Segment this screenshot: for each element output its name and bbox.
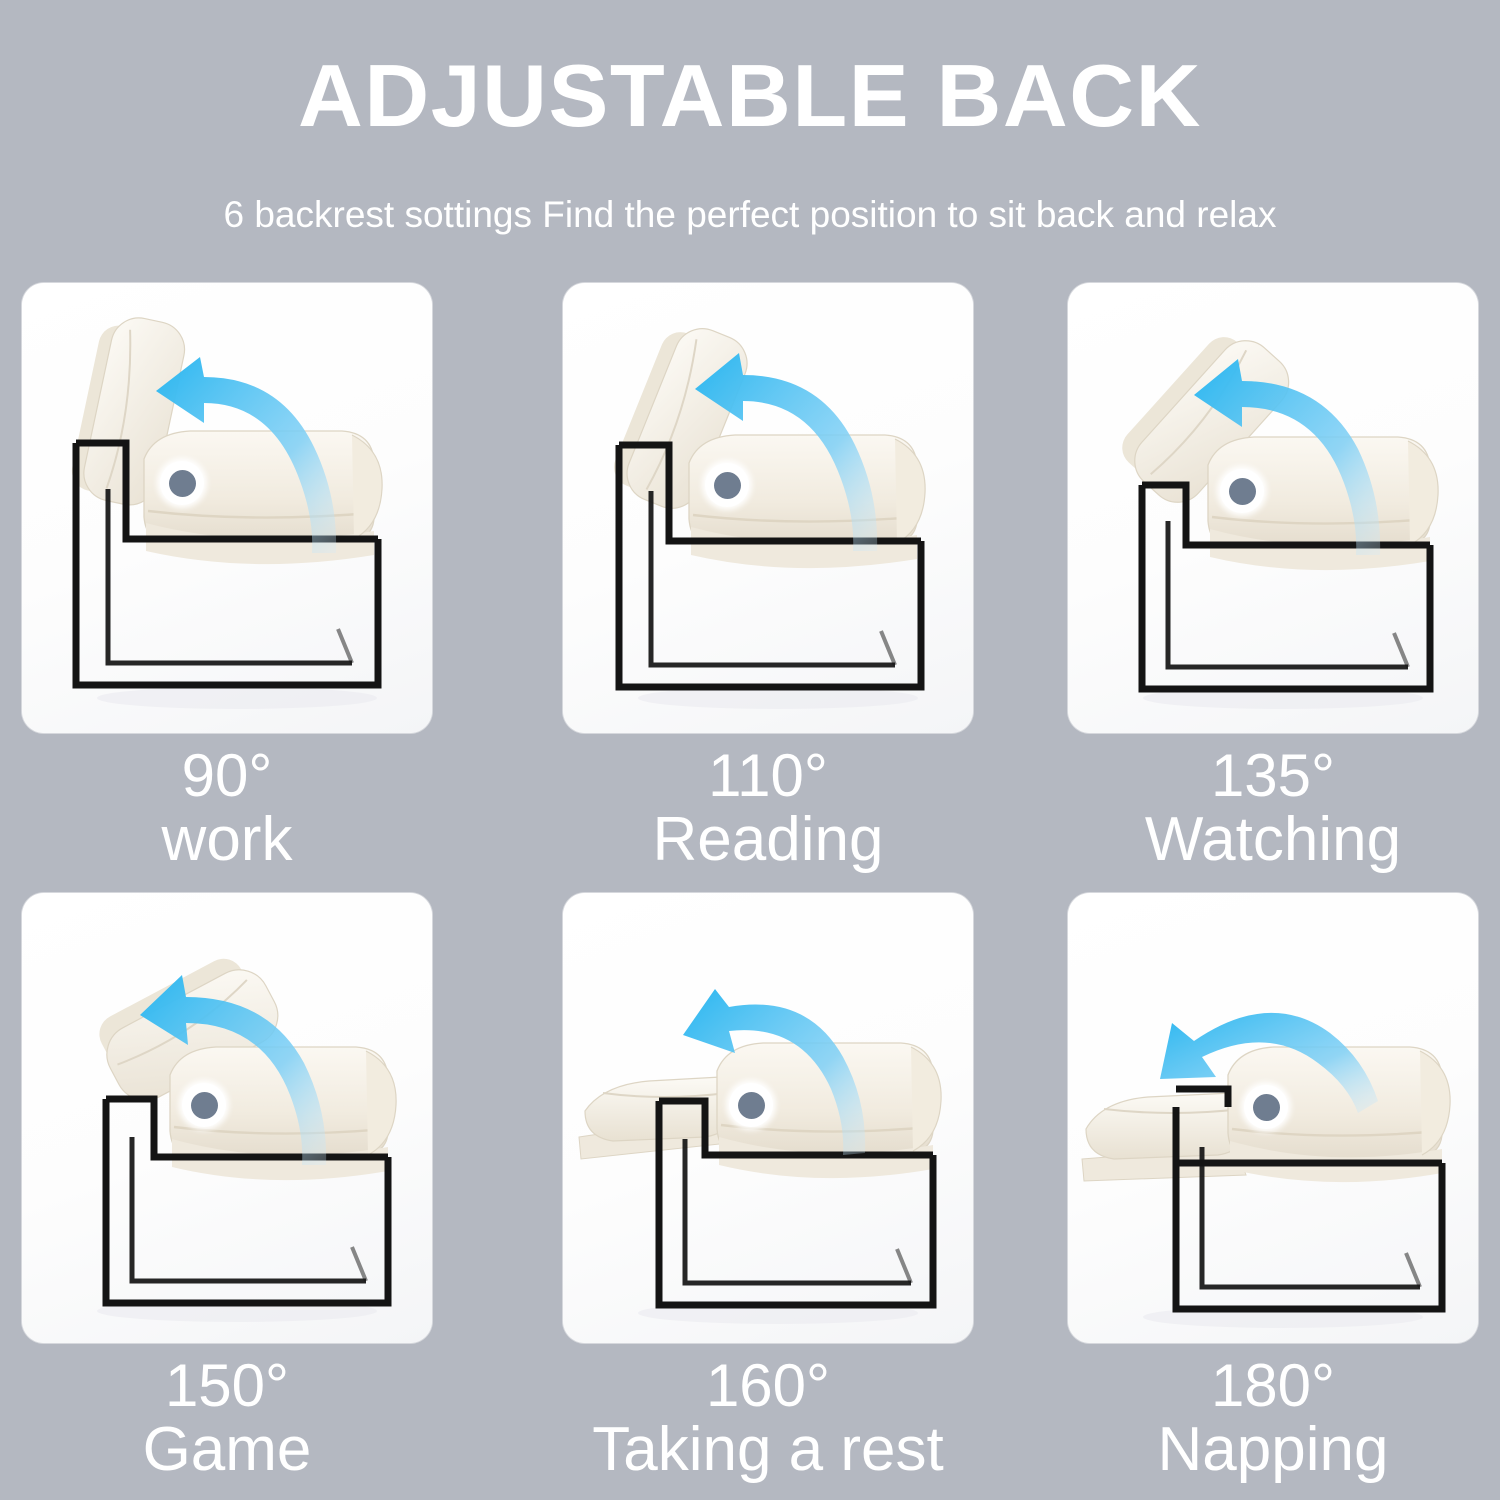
setting-caption: 110° Reading (563, 745, 973, 873)
setting-caption: 135° Watching (1068, 745, 1478, 873)
setting-activity: Watching (1068, 807, 1478, 873)
setting-degrees: 110° (563, 745, 973, 807)
pivot-point-icon (729, 1083, 773, 1127)
recline-arrow-icon (563, 283, 973, 733)
setting-cell-pos-90[interactable]: 90° work (22, 283, 432, 733)
infographic-page: ADJUSTABLE BACK 6 backrest sottings Find… (0, 0, 1500, 1500)
chair-card[interactable] (1068, 283, 1478, 733)
setting-cell-pos-160[interactable]: 160° Taking a rest (563, 893, 973, 1343)
setting-activity: Taking a rest (563, 1417, 973, 1483)
setting-degrees: 180° (1068, 1355, 1478, 1417)
settings-row-2: 150° Game (22, 893, 1478, 1343)
setting-degrees: 135° (1068, 745, 1478, 807)
pivot-point-icon (705, 463, 749, 507)
setting-caption: 90° work (22, 745, 432, 873)
setting-activity: Reading (563, 807, 973, 873)
setting-caption: 180° Napping (1068, 1355, 1478, 1483)
setting-cell-pos-150[interactable]: 150° Game (22, 893, 432, 1343)
setting-degrees: 160° (563, 1355, 973, 1417)
pivot-point-icon (1220, 469, 1264, 513)
setting-cell-pos-180[interactable]: 180° Napping (1068, 893, 1478, 1343)
pivot-point-icon (182, 1083, 226, 1127)
chair-card[interactable] (22, 893, 432, 1343)
setting-activity: work (22, 807, 432, 873)
recline-arrow-icon (22, 893, 432, 1343)
chair-card[interactable] (563, 283, 973, 733)
page-subtitle: 6 backrest sottings Find the perfect pos… (0, 196, 1500, 233)
setting-caption: 160° Taking a rest (563, 1355, 973, 1483)
recline-arrow-icon (22, 283, 432, 733)
chair-card[interactable] (1068, 893, 1478, 1343)
settings-row-1: 90° work (22, 283, 1478, 733)
setting-cell-pos-110[interactable]: 110° Reading (563, 283, 973, 733)
chair-card[interactable] (22, 283, 432, 733)
setting-activity: Napping (1068, 1417, 1478, 1483)
page-title: ADJUSTABLE BACK (0, 52, 1500, 140)
pivot-point-icon (1244, 1085, 1288, 1129)
chair-card[interactable] (563, 893, 973, 1343)
setting-caption: 150° Game (22, 1355, 432, 1483)
settings-grid: 90° work (22, 283, 1478, 1343)
header: ADJUSTABLE BACK 6 backrest sottings Find… (0, 52, 1500, 233)
recline-arrow-icon (1068, 283, 1478, 733)
setting-activity: Game (22, 1417, 432, 1483)
pivot-point-icon (160, 461, 204, 505)
setting-cell-pos-135[interactable]: 135° Watching (1068, 283, 1478, 733)
setting-degrees: 150° (22, 1355, 432, 1417)
setting-degrees: 90° (22, 745, 432, 807)
